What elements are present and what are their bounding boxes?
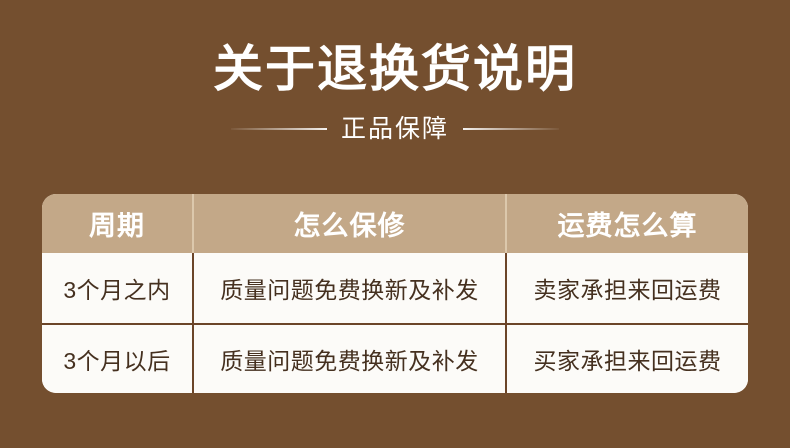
table-header-row: 周期 怎么保修 运费怎么算 xyxy=(42,194,748,253)
page-subtitle: 正品保障 xyxy=(341,114,449,144)
table-cell-period: 3个月以后 xyxy=(42,325,192,393)
table-row: 3个月以后 质量问题免费换新及补发 买家承担来回运费 xyxy=(42,323,748,393)
page-title: 关于退换货说明 xyxy=(0,38,790,100)
return-policy-banner: 关于退换货说明 正品保障 周期 怎么保修 运费怎么算 3个月之内 质量问题免费换… xyxy=(0,0,790,448)
title-block: 关于退换货说明 正品保障 xyxy=(0,38,790,144)
return-policy-table: 周期 怎么保修 运费怎么算 3个月之内 质量问题免费换新及补发 卖家承担来回运费… xyxy=(42,194,748,393)
table-cell-warranty: 质量问题免费换新及补发 xyxy=(192,325,505,393)
table-cell-shipping: 卖家承担来回运费 xyxy=(505,253,748,323)
table-header-cell-period: 周期 xyxy=(42,194,192,253)
table-row: 3个月之内 质量问题免费换新及补发 卖家承担来回运费 xyxy=(42,253,748,323)
decorative-line-left-icon xyxy=(231,128,327,130)
table-cell-period: 3个月之内 xyxy=(42,253,192,323)
table-cell-shipping: 买家承担来回运费 xyxy=(505,325,748,393)
table-header-cell-warranty: 怎么保修 xyxy=(192,194,505,253)
table-header-cell-shipping: 运费怎么算 xyxy=(505,194,748,253)
decorative-line-right-icon xyxy=(463,128,559,130)
table-cell-warranty: 质量问题免费换新及补发 xyxy=(192,253,505,323)
subtitle-row: 正品保障 xyxy=(0,114,790,144)
